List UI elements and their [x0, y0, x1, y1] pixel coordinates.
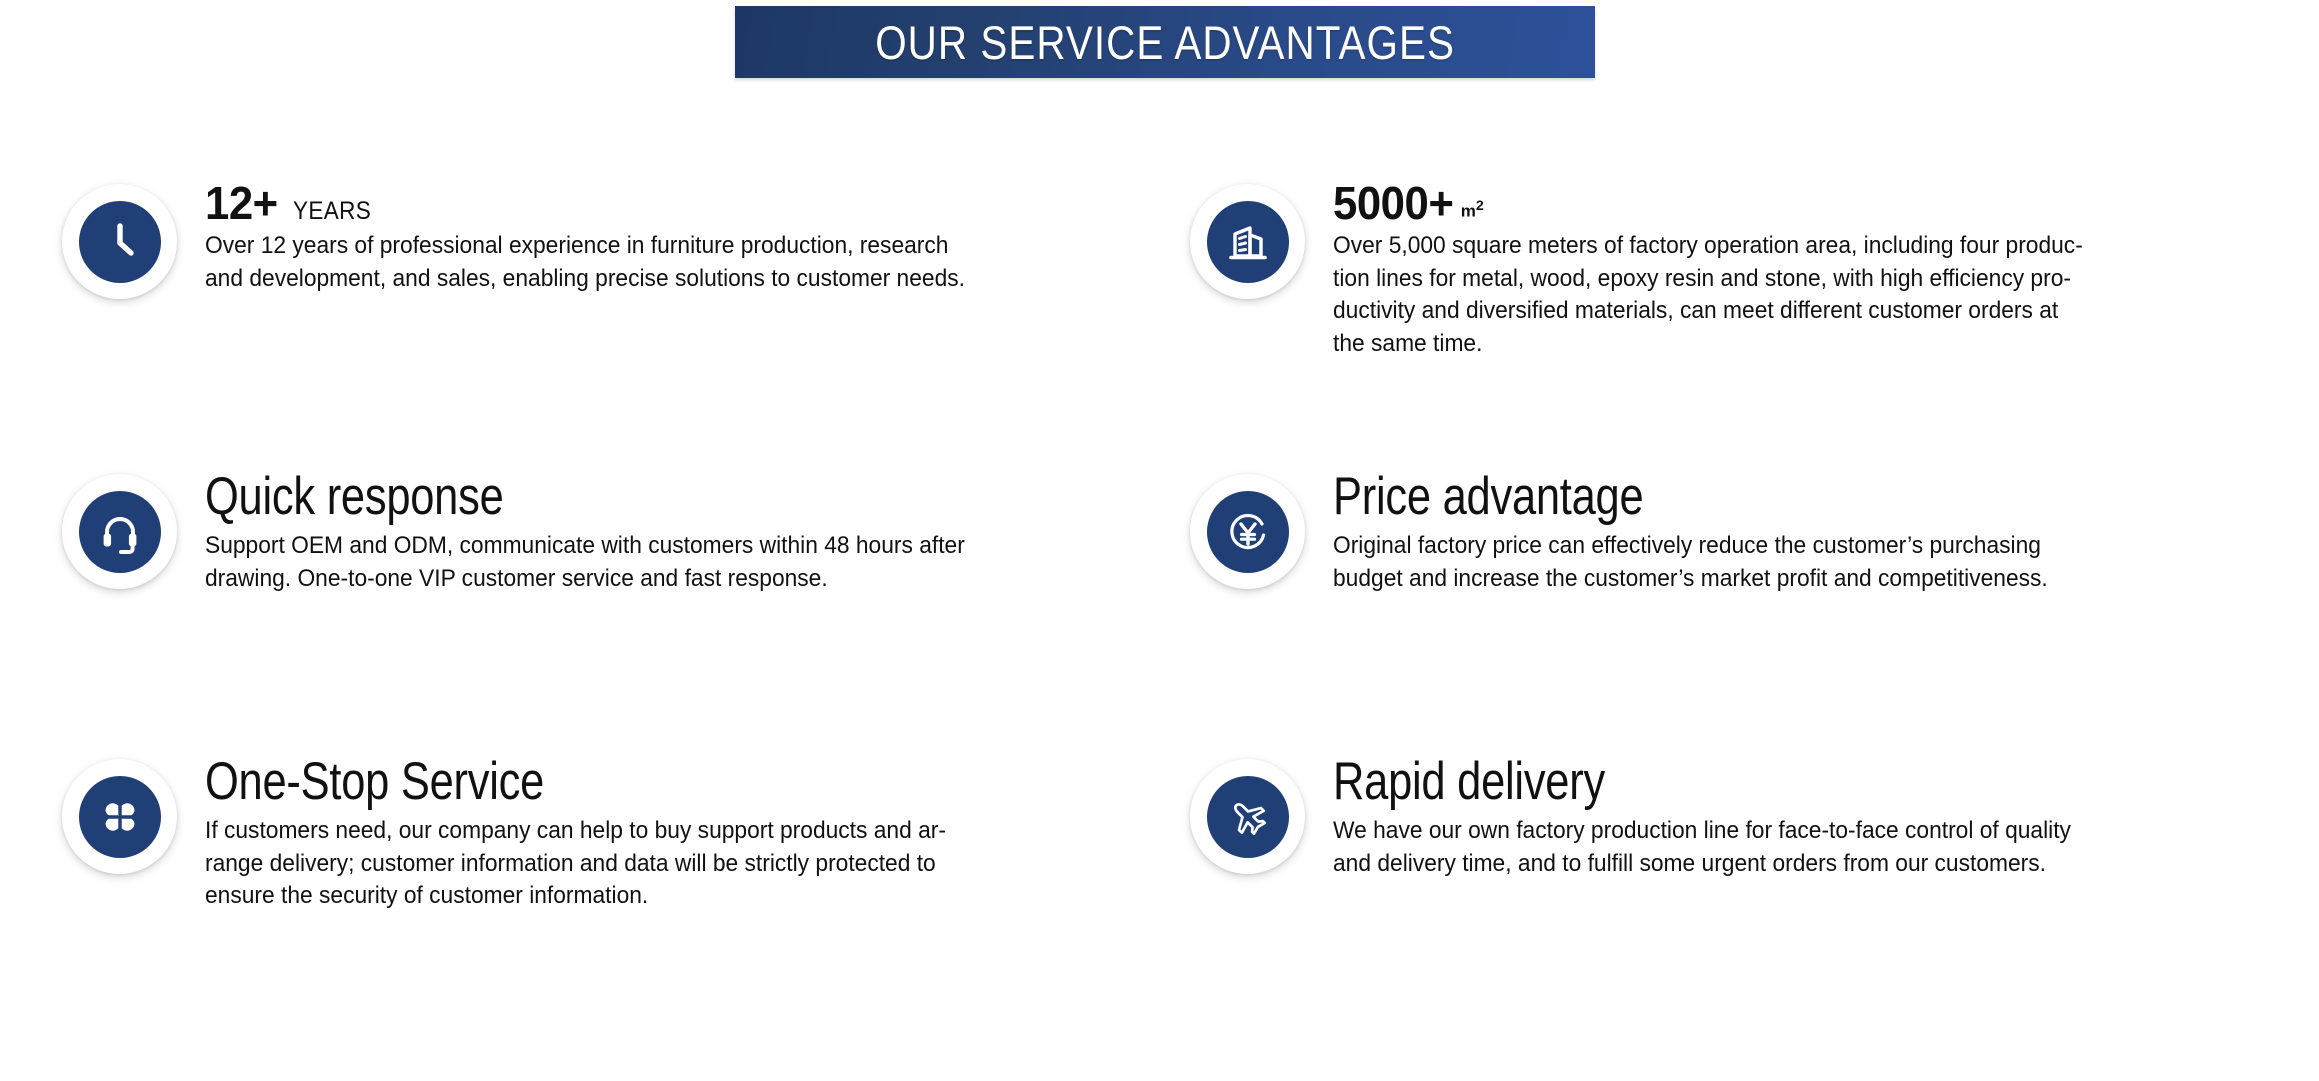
building-icon-badge	[1190, 184, 1305, 299]
feature-body-one-stop-service: If customers need, our company can help …	[205, 815, 893, 913]
features-row: One-Stop Service If customers need, our …	[0, 753, 2319, 1043]
feature-card-factory-area: 5000+ m2 Over 5,000 square meters of fac…	[1190, 178, 2319, 468]
four-petal-icon-badge	[62, 759, 177, 874]
features-row: Quick response Support OEM and ODM, comm…	[0, 468, 2319, 753]
feature-card-rapid-delivery: Rapid delivery We have our own factory p…	[1190, 753, 2319, 1043]
airplane-icon	[1207, 776, 1289, 858]
yen-coin-icon-badge	[1190, 474, 1305, 589]
feature-body-quick-response: Support OEM and ODM, communicate with cu…	[205, 530, 893, 595]
feature-text-one-stop-service: One-Stop Service If customers need, our …	[205, 753, 945, 913]
page-title: OUR SERVICE ADVANTAGES	[875, 15, 1455, 70]
feature-heading-price-advantage: Price advantage	[1333, 470, 1923, 524]
body-line: Support OEM and ODM, communicate with cu…	[205, 530, 893, 563]
feature-text-rapid-delivery: Rapid delivery We have our own factory p…	[1333, 753, 2053, 880]
body-line: Over 12 years of professional experience…	[205, 230, 893, 263]
body-line: budget and increase the customer’s marke…	[1333, 563, 2003, 596]
clock-icon-badge	[62, 184, 177, 299]
building-icon	[1207, 201, 1289, 283]
stat-line-factory-area: 5000+ m2	[1333, 180, 2053, 226]
body-line: We have our own factory production line …	[1333, 815, 2003, 848]
stat-suffix-years: YEARS	[293, 197, 371, 226]
headset-icon	[79, 491, 161, 573]
feature-heading-quick-response: Quick response	[205, 470, 812, 524]
feature-text-quick-response: Quick response Support OEM and ODM, comm…	[205, 468, 945, 595]
features-row: 12+ YEARS Over 12 years of professional …	[0, 178, 2319, 468]
feature-card-years: 12+ YEARS Over 12 years of professional …	[0, 178, 1190, 468]
stat-number-factory-area: 5000+	[1333, 180, 1453, 226]
feature-text-price-advantage: Price advantage Original factory price c…	[1333, 468, 2053, 595]
body-line: drawing. One-to-one VIP customer service…	[205, 563, 893, 596]
stat-line-years: 12+ YEARS	[205, 180, 945, 226]
features-grid: 12+ YEARS Over 12 years of professional …	[0, 178, 2319, 1043]
feature-card-price-advantage: Price advantage Original factory price c…	[1190, 468, 2319, 753]
feature-text-factory-area: 5000+ m2 Over 5,000 square meters of fac…	[1333, 178, 2053, 360]
body-line: and delivery time, and to fulfill some u…	[1333, 848, 2003, 881]
body-line: ensure the security of customer informat…	[205, 880, 893, 913]
body-line: Original factory price can effectively r…	[1333, 530, 2003, 563]
body-line: If customers need, our company can help …	[205, 815, 893, 848]
body-line: ductivity and diversified materials, can…	[1333, 295, 2003, 328]
airplane-icon-badge	[1190, 759, 1305, 874]
body-line: Over 5,000 square meters of factory oper…	[1333, 230, 2003, 263]
feature-text-years: 12+ YEARS Over 12 years of professional …	[205, 178, 945, 295]
feature-body-rapid-delivery: We have our own factory production line …	[1333, 815, 2003, 880]
body-line: tion lines for metal, wood, epoxy resin …	[1333, 263, 2003, 296]
feature-card-one-stop-service: One-Stop Service If customers need, our …	[0, 753, 1190, 1043]
feature-heading-rapid-delivery: Rapid delivery	[1333, 755, 1923, 809]
body-line: the same time.	[1333, 328, 2003, 361]
four-petal-icon	[79, 776, 161, 858]
feature-body-factory-area: Over 5,000 square meters of factory oper…	[1333, 230, 2003, 360]
feature-body-price-advantage: Original factory price can effectively r…	[1333, 530, 2003, 595]
headset-icon-badge	[62, 474, 177, 589]
stat-number-years: 12+	[205, 180, 278, 226]
yen-coin-icon	[1207, 491, 1289, 573]
stat-suffix-factory-area: m2	[1461, 198, 1484, 222]
body-line: range delivery; customer information and…	[205, 848, 893, 881]
feature-body-years: Over 12 years of professional experience…	[205, 230, 893, 295]
header-banner: OUR SERVICE ADVANTAGES	[735, 6, 1595, 78]
header-banner-area: OUR SERVICE ADVANTAGES	[0, 6, 2319, 82]
body-line: and development, and sales, enabling pre…	[205, 263, 893, 296]
feature-card-quick-response: Quick response Support OEM and ODM, comm…	[0, 468, 1190, 753]
feature-heading-one-stop-service: One-Stop Service	[205, 755, 812, 809]
clock-icon	[79, 201, 161, 283]
